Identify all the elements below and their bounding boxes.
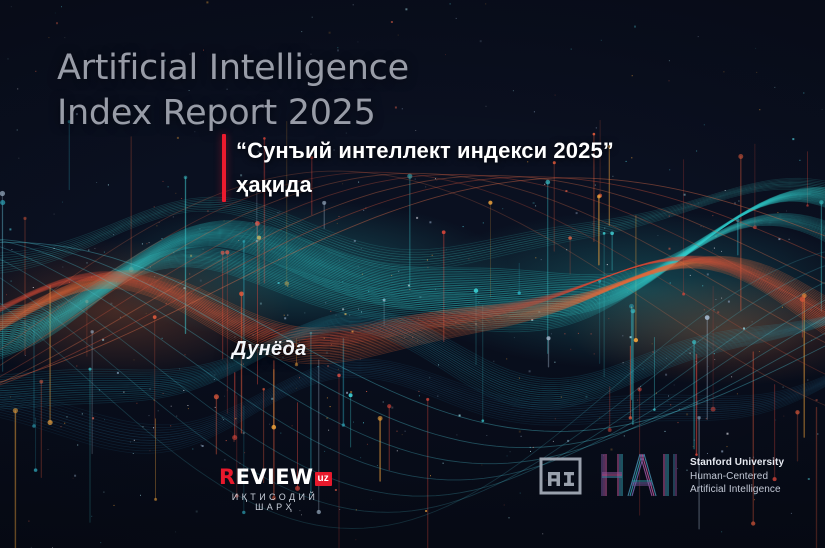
hai-org-name: Stanford University — [690, 456, 784, 470]
stanford-hai-text: Stanford University Human-Centered Artif… — [690, 456, 784, 497]
report-title-line-2: Index Report 2025 — [57, 91, 409, 136]
headline-line-2: ҳақида — [236, 168, 614, 202]
report-cover-image: Artificial Intelligence Index Report 202… — [0, 0, 825, 548]
review-domain-badge: uz — [315, 472, 333, 486]
review-wordmark: R EVIEW uz — [219, 466, 332, 488]
hai-tagline-line-1: Human-Centered — [690, 470, 784, 484]
subject-word: Дунёда — [232, 338, 307, 361]
review-remaining-letters: EVIEW — [236, 467, 314, 488]
report-title: Artificial Intelligence Index Report 202… — [57, 46, 409, 136]
review-initial-letter: R — [219, 467, 236, 488]
headline-line-1: “Сунъий интеллект индекси 2025” — [236, 134, 614, 168]
report-title-line-1: Artificial Intelligence — [57, 46, 409, 91]
review-tagline: ИҚТИСОДИЙ ШАРҲ — [219, 492, 331, 512]
ai-index-logo[interactable] — [535, 452, 591, 500]
headline-block: “Сунъий интеллект индекси 2025” ҳақида — [222, 134, 614, 202]
hai-tagline-line-2: Artificial Intelligence — [690, 483, 784, 497]
stanford-hai-logo[interactable] — [600, 450, 684, 502]
review-uz-logo[interactable]: R EVIEW uz ИҚТИСОДИЙ ШАРҲ — [219, 466, 332, 512]
headline-text: “Сунъий интеллект индекси 2025” ҳақида — [226, 134, 614, 202]
ai-index-letters — [548, 472, 574, 486]
